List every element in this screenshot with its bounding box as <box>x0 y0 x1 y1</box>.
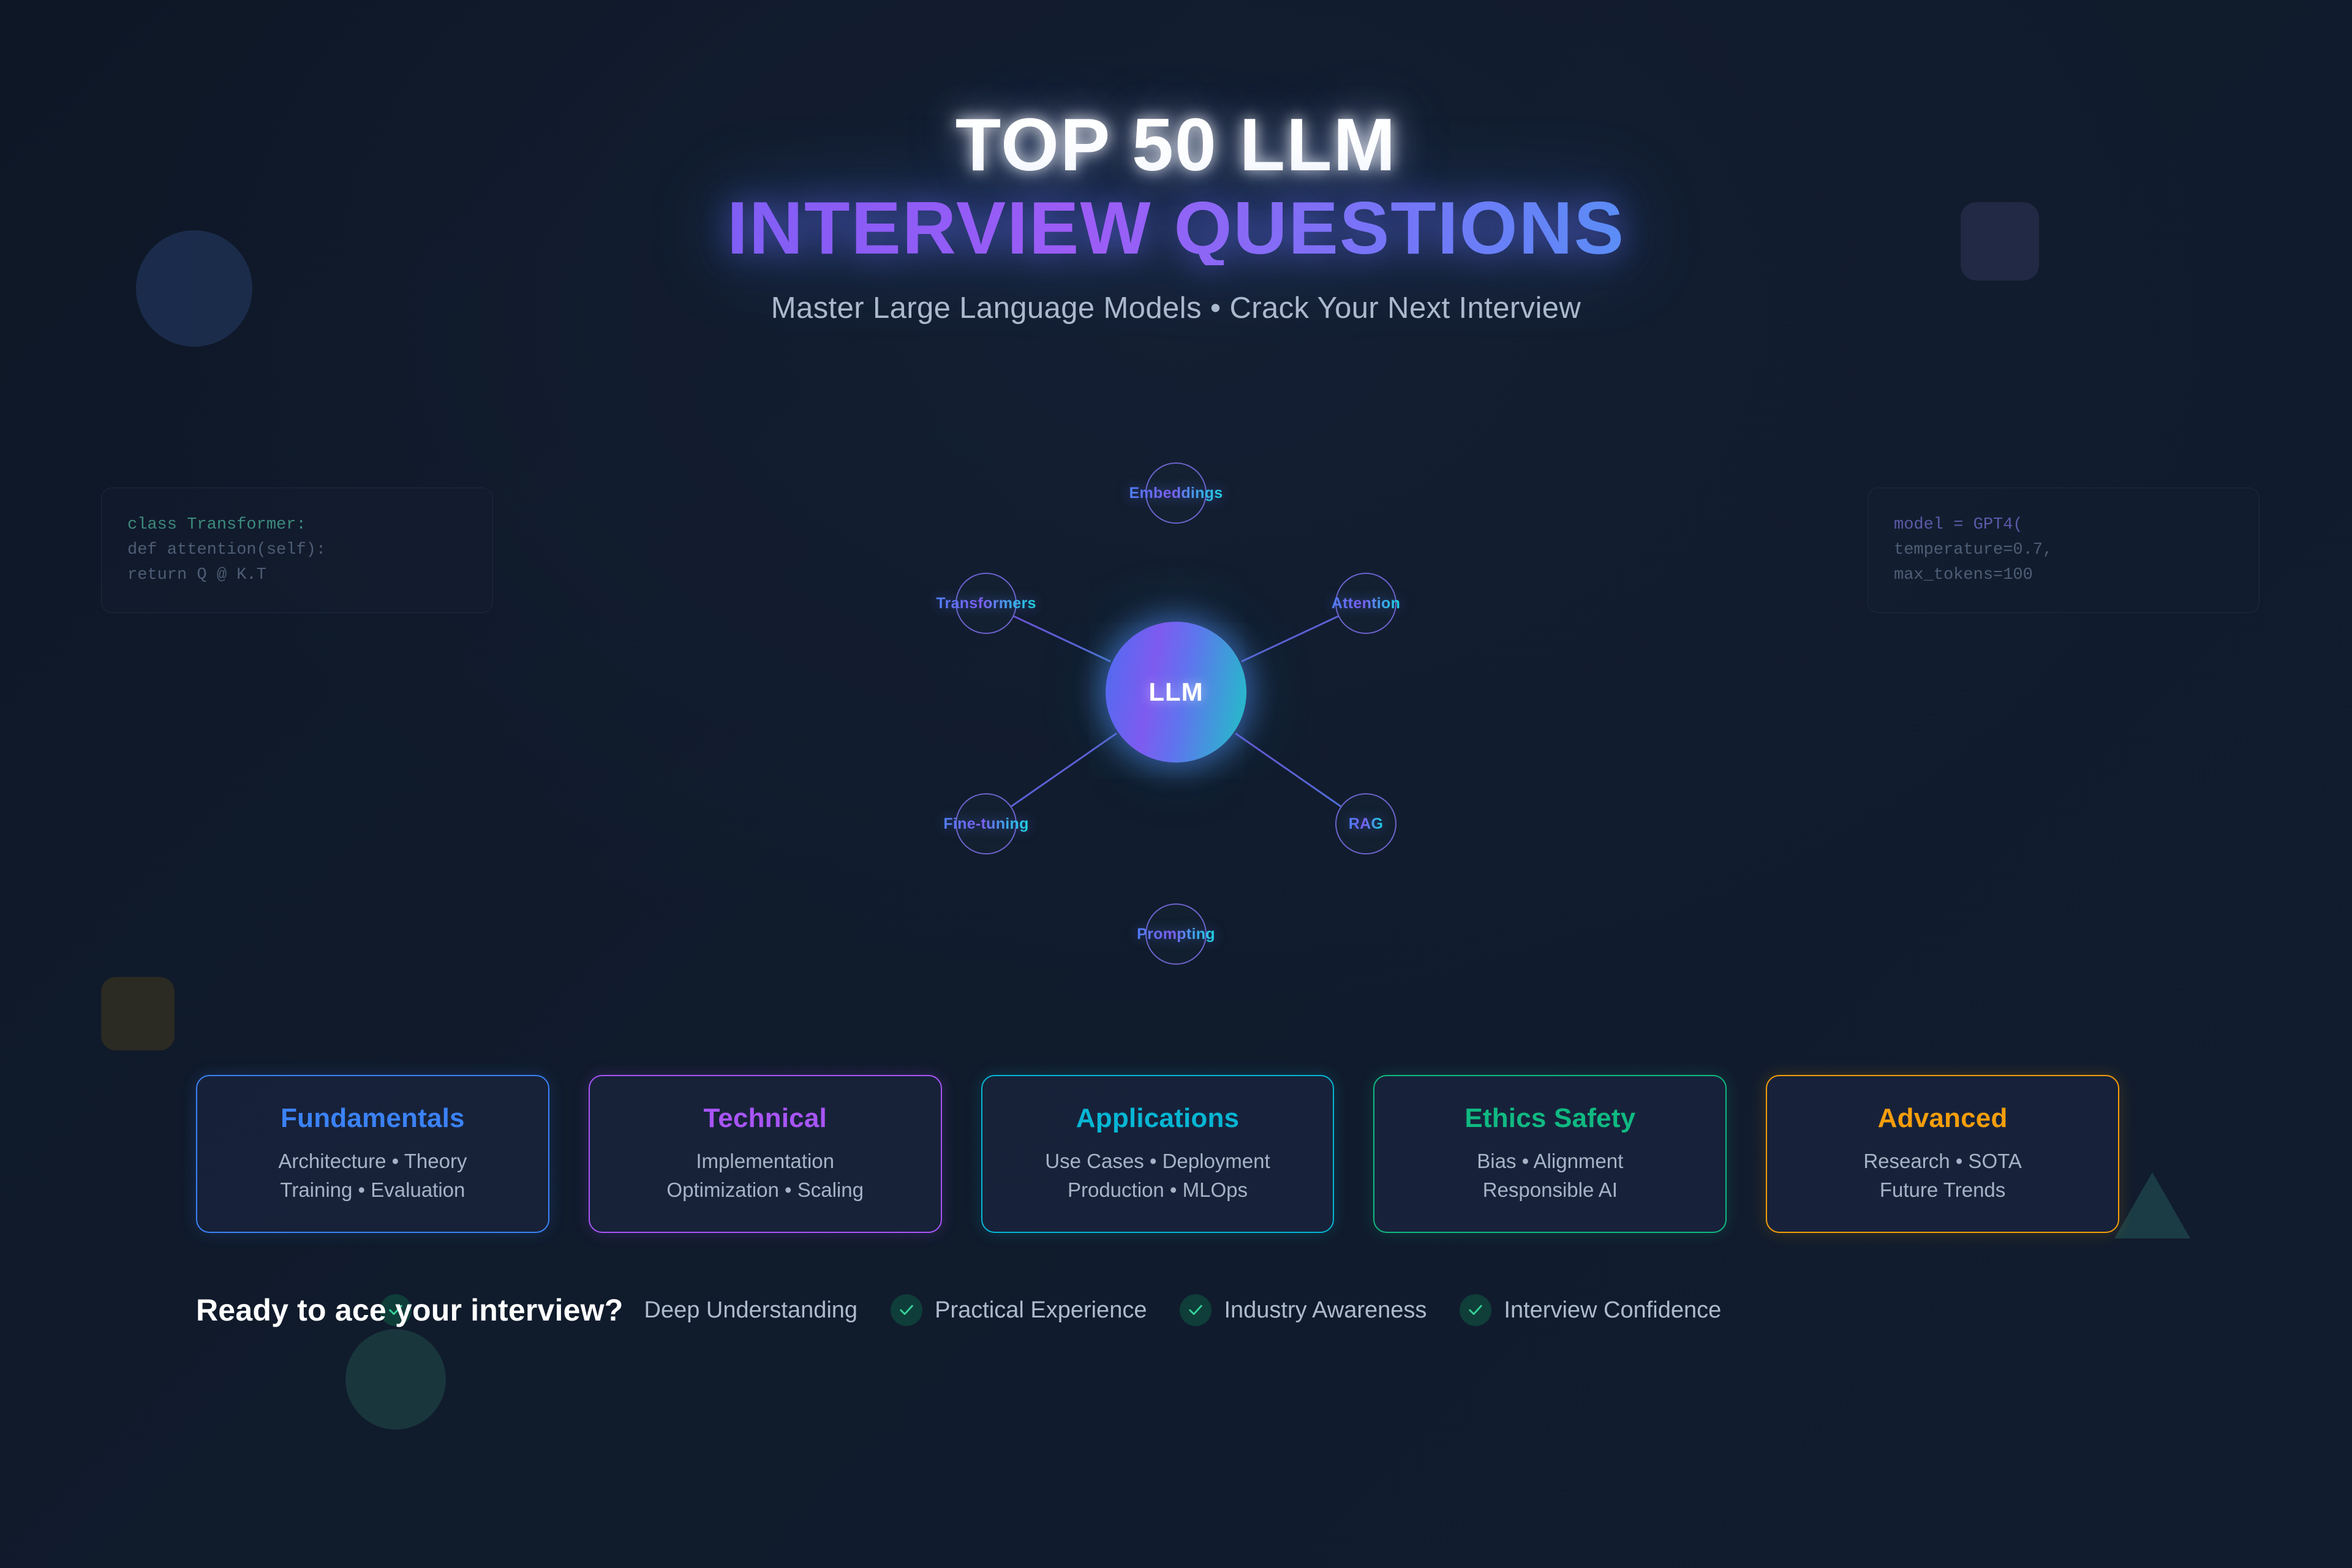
card-title: Ethics Safety <box>1464 1103 1635 1134</box>
cta-benefit-item: Industry Awareness <box>1180 1294 1427 1326</box>
cta-heading: Ready to ace your interview? <box>196 1292 624 1328</box>
llm-concept-hub-diagram: LLM EmbeddingsAttentionRAGPromptingFine-… <box>858 386 1494 998</box>
page-header: TOP 50 LLM INTERVIEW QUESTIONS Master La… <box>0 0 2352 325</box>
code-line-3: max_tokens=100 <box>1894 566 2033 584</box>
decor-circle-teal <box>345 1329 446 1430</box>
hub-node-rag[interactable]: RAG <box>1335 793 1396 854</box>
hub-center-label: LLM <box>1148 677 1203 707</box>
hub-node-fine-tuning[interactable]: Fine-tuning <box>956 793 1017 854</box>
card-subtitle-line-2: Future Trends <box>1863 1176 2022 1205</box>
hub-node-label: Fine-tuning <box>943 815 1028 833</box>
hub-node-label: Embeddings <box>1129 484 1223 502</box>
card-subtitle-line-1: Research • SOTA <box>1863 1147 2022 1176</box>
hub-node-embeddings[interactable]: Embeddings <box>1145 462 1207 524</box>
card-subtitle-line-2: Production • MLOps <box>1045 1176 1270 1205</box>
card-subtitle-line-1: Implementation <box>666 1147 864 1176</box>
card-subtitle-line-2: Responsible AI <box>1477 1176 1623 1205</box>
card-subtitle: Use Cases • Deployment Production • MLOp… <box>1045 1147 1270 1205</box>
code-line-1: model = GPT4( <box>1894 516 2023 534</box>
card-subtitle: Research • SOTA Future Trends <box>1863 1147 2022 1205</box>
cta-benefit-list: Deep UnderstandingPractical ExperienceIn… <box>625 1294 1755 1326</box>
cta-benefit-label: Interview Confidence <box>1504 1297 1721 1324</box>
check-icon <box>1460 1294 1491 1326</box>
decor-triangle-teal <box>2114 1172 2190 1238</box>
hub-node-label: Transformers <box>936 595 1036 612</box>
category-card-technical[interactable]: Technical Implementation Optimization • … <box>589 1075 942 1233</box>
page-title-primary: TOP 50 LLM <box>0 107 2352 182</box>
card-subtitle: Bias • Alignment Responsible AI <box>1477 1147 1623 1205</box>
card-subtitle-line-1: Architecture • Theory <box>278 1147 467 1176</box>
card-title: Fundamentals <box>281 1103 465 1134</box>
code-snippet-right: model = GPT4( temperature=0.7, max_token… <box>1868 488 2260 613</box>
cta-benefit-label: Deep Understanding <box>644 1297 858 1324</box>
card-subtitle-line-1: Bias • Alignment <box>1477 1147 1623 1176</box>
cta-benefit-label: Practical Experience <box>935 1297 1147 1324</box>
hub-node-attention[interactable]: Attention <box>1335 573 1396 634</box>
category-card-applications[interactable]: Applications Use Cases • Deployment Prod… <box>981 1075 1335 1233</box>
hub-node-transformers[interactable]: Transformers <box>956 573 1017 634</box>
code-line-2: def attention(self): <box>127 541 326 559</box>
check-icon <box>1180 1294 1212 1326</box>
code-snippet-left: class Transformer: def attention(self): … <box>101 488 493 613</box>
card-title: Advanced <box>1878 1103 2008 1134</box>
category-card-advanced[interactable]: Advanced Research • SOTA Future Trends <box>1766 1075 2119 1233</box>
code-line-2: temperature=0.7, <box>1894 541 2052 559</box>
cta-benefit-item: Interview Confidence <box>1460 1294 1721 1326</box>
card-title: Applications <box>1076 1103 1239 1134</box>
hub-node-prompting[interactable]: Prompting <box>1145 903 1207 965</box>
card-subtitle-line-2: Training • Evaluation <box>278 1176 467 1205</box>
card-subtitle-line-1: Use Cases • Deployment <box>1045 1147 1270 1176</box>
category-card-ethics-safety[interactable]: Ethics Safety Bias • Alignment Responsib… <box>1373 1075 1727 1233</box>
hub-center-node[interactable]: LLM <box>1106 622 1246 763</box>
card-title: Technical <box>703 1103 827 1134</box>
page-title-secondary: INTERVIEW QUESTIONS <box>0 190 2352 265</box>
hub-node-label: Attention <box>1332 595 1400 612</box>
category-card-fundamentals[interactable]: Fundamentals Architecture • Theory Train… <box>196 1075 549 1233</box>
check-icon <box>891 1294 922 1326</box>
code-line-3: return Q @ K.T <box>127 566 266 584</box>
code-line-1: class Transformer: <box>127 516 306 534</box>
cta-benefit-label: Industry Awareness <box>1224 1297 1427 1324</box>
cta-row: Ready to ace your interview? Deep Unders… <box>196 1292 2156 1328</box>
cta-benefit-item: Practical Experience <box>891 1294 1147 1326</box>
card-subtitle: Architecture • Theory Training • Evaluat… <box>278 1147 467 1205</box>
card-subtitle-line-2: Optimization • Scaling <box>666 1176 864 1205</box>
page-subtitle: Master Large Language Models • Crack You… <box>0 291 2352 325</box>
category-cards: Fundamentals Architecture • Theory Train… <box>196 1075 2119 1233</box>
hub-node-label: Prompting <box>1137 925 1215 943</box>
card-subtitle: Implementation Optimization • Scaling <box>666 1147 864 1205</box>
hub-node-label: RAG <box>1349 815 1383 833</box>
decor-square-olive <box>101 977 175 1050</box>
